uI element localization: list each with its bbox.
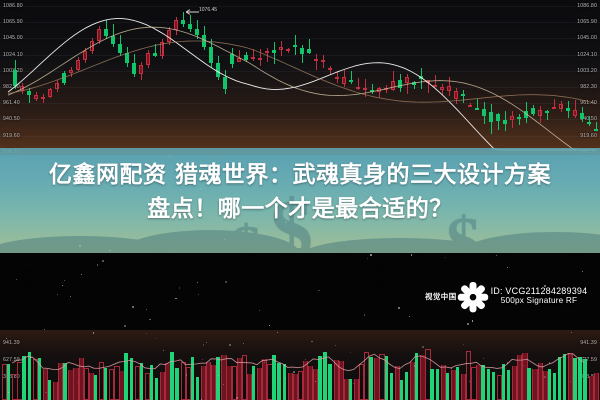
speckle (102, 260, 104, 262)
speckle (507, 267, 508, 268)
speckle (97, 264, 98, 265)
speckle (155, 338, 156, 339)
speckle (467, 323, 469, 325)
speckle (367, 258, 368, 259)
moving-average-line (8, 41, 596, 104)
speckle (70, 296, 71, 297)
speckle (124, 325, 125, 326)
speckle (8, 392, 9, 393)
volume-chart-panel: 941.39627.59313.80 941.39627.59313.80 (0, 330, 600, 400)
speckle (284, 365, 285, 366)
speckle (269, 325, 270, 326)
speckle (582, 271, 583, 272)
volume-ma-polyline (12, 354, 583, 371)
dollar-sign-icon: $ (196, 256, 213, 290)
dollar-sign-icon: $ (372, 264, 386, 292)
speckle (149, 319, 150, 320)
speckle (414, 365, 415, 366)
price-chart-panel: 1086.801065.901045.001024.101003.20982.3… (0, 0, 600, 155)
speckle (201, 399, 202, 400)
speckle (77, 382, 78, 383)
speckle (6, 338, 7, 339)
speckle (318, 290, 319, 291)
speckle (335, 345, 336, 346)
title-overlay-band (0, 148, 600, 253)
speckle (398, 307, 400, 309)
speckle (350, 352, 351, 353)
starburst-icon (460, 283, 486, 309)
speckle (202, 359, 203, 360)
speckle (311, 341, 312, 342)
speckle (64, 280, 65, 281)
screenshot-root: 1086.801065.901045.001024.101003.20982.3… (0, 0, 600, 400)
speckle (229, 344, 231, 346)
speckle (570, 381, 571, 382)
moving-average-lines (0, 0, 600, 155)
speckle (422, 346, 424, 348)
speckle (146, 333, 147, 334)
speckle (293, 371, 295, 373)
speckle (206, 342, 207, 343)
dollar-sign-icon: $ (56, 280, 65, 298)
speckle (57, 294, 58, 295)
speckle (463, 344, 464, 345)
speckle (30, 357, 31, 358)
annotation-arrow-icon (186, 9, 200, 15)
speckle (451, 368, 452, 369)
speckle (483, 358, 484, 359)
speckle (163, 350, 164, 351)
moving-average-line (8, 19, 596, 150)
watermark: 视觉中国 ID: VCG211284289394 500px Signature… (425, 283, 587, 309)
speckle (243, 343, 244, 344)
watermark-text: ID: VCG211284289394 500px Signature RF (491, 286, 588, 307)
watermark-brand-label: 视觉中国 (425, 291, 457, 302)
watermark-id-label: ID: VCG211284289394 (491, 286, 588, 297)
price-annotation-label: 1076.45 (199, 7, 217, 13)
volume-moving-average-line (0, 330, 600, 400)
moving-average-line (8, 27, 596, 150)
speckle (264, 362, 265, 363)
watermark-license-label: 500px Signature RF (491, 296, 588, 307)
dollar-sign-icon: $ (22, 266, 35, 292)
speckle (583, 357, 584, 358)
